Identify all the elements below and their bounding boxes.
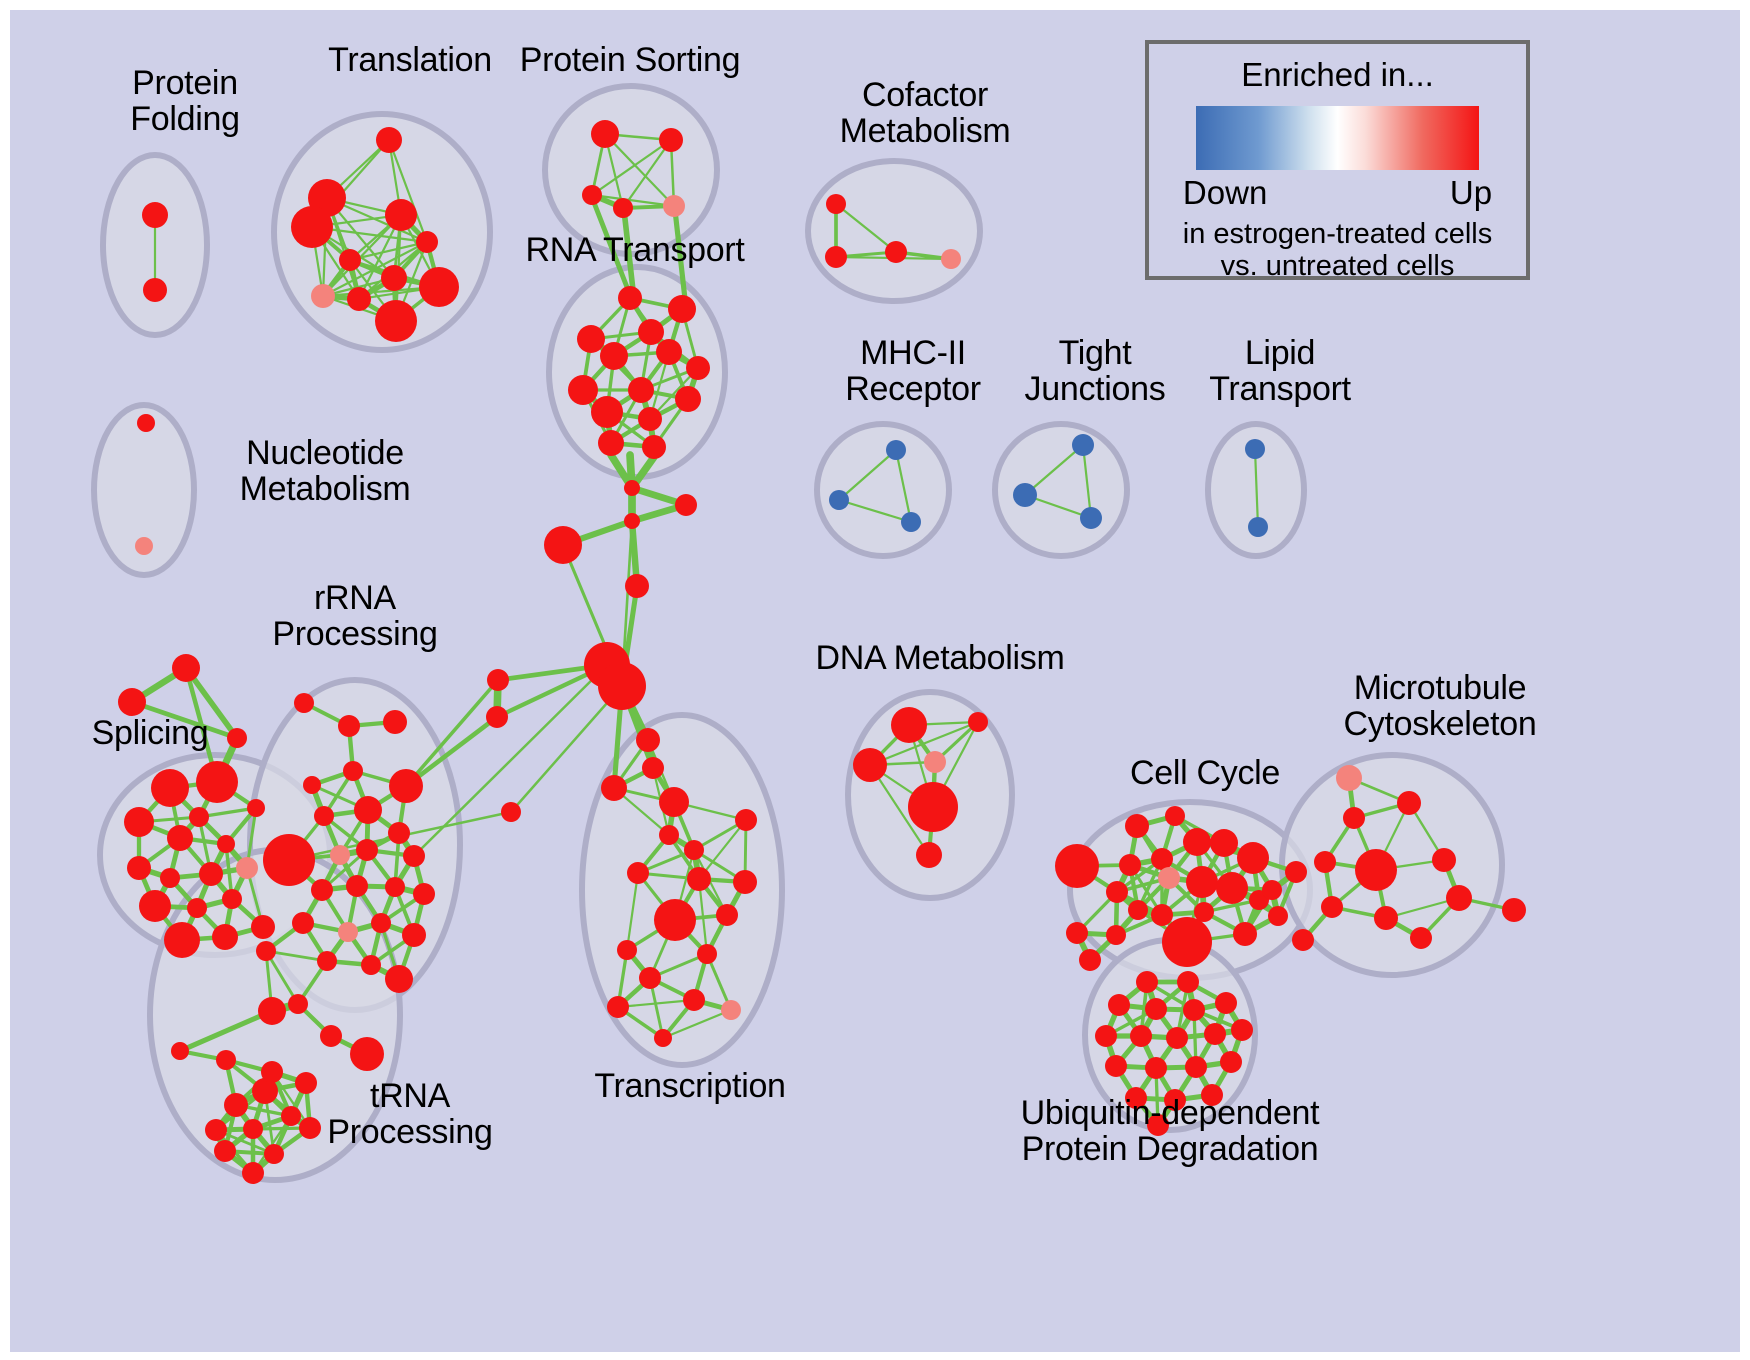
network-node[interactable] [659, 825, 679, 845]
network-node[interactable] [172, 654, 200, 682]
network-node[interactable] [1220, 1051, 1242, 1073]
network-node[interactable] [659, 787, 689, 817]
network-node[interactable] [258, 997, 286, 1025]
network-node[interactable] [251, 915, 275, 939]
network-node[interactable] [577, 325, 605, 353]
cluster-label-microtubule-cytoskeleton: Microtubule Cytoskeleton [1310, 670, 1570, 742]
network-node[interactable] [1158, 867, 1180, 889]
network-node[interactable] [908, 782, 958, 832]
cluster-label-translation: Translation [285, 42, 535, 78]
network-node[interactable] [636, 728, 660, 752]
network-node[interactable] [1268, 906, 1288, 926]
cluster-label-transcription: Transcription [565, 1068, 815, 1104]
network-node[interactable] [686, 356, 710, 380]
network-node[interactable] [885, 241, 907, 263]
network-node[interactable] [901, 512, 921, 532]
network-node[interactable] [402, 923, 426, 947]
legend-title: Enriched in... [1149, 56, 1526, 94]
network-node[interactable] [375, 300, 417, 342]
network-node[interactable] [311, 879, 333, 901]
network-node[interactable] [303, 776, 321, 794]
network-node[interactable] [346, 875, 368, 897]
network-node[interactable] [189, 807, 209, 827]
network-node[interactable] [501, 802, 521, 822]
network-node[interactable] [356, 839, 378, 861]
network-node[interactable] [733, 870, 757, 894]
network-node[interactable] [826, 194, 846, 214]
network-node[interactable] [288, 994, 308, 1014]
network-node[interactable] [1125, 814, 1149, 838]
cluster-halo-protein-sorting [545, 86, 717, 254]
legend-panel: Enriched in... Down Up in estrogen-treat… [1145, 40, 1530, 280]
network-node[interactable] [339, 249, 361, 271]
network-node[interactable] [891, 707, 927, 743]
network-node[interactable] [1066, 922, 1088, 944]
network-node[interactable] [1186, 866, 1218, 898]
network-node[interactable] [330, 845, 350, 865]
network-node[interactable] [941, 249, 961, 269]
network-node[interactable] [716, 904, 738, 926]
network-node[interactable] [1072, 434, 1094, 456]
network-node[interactable] [1165, 806, 1185, 826]
network-node[interactable] [591, 120, 619, 148]
network-node[interactable] [613, 198, 633, 218]
network-node[interactable] [350, 1037, 384, 1071]
network-node[interactable] [1080, 507, 1102, 529]
network-node[interactable] [388, 822, 410, 844]
network-node[interactable] [343, 761, 363, 781]
network-node[interactable] [1432, 848, 1456, 872]
network-node[interactable] [1194, 902, 1214, 922]
cluster-label-lipid-transport: Lipid Transport [1170, 335, 1390, 407]
network-node[interactable] [1095, 1025, 1117, 1047]
network-node[interactable] [164, 922, 200, 958]
network-node[interactable] [1162, 917, 1212, 967]
network-node[interactable] [639, 967, 661, 989]
network-node[interactable] [236, 857, 258, 879]
network-node[interactable] [413, 883, 435, 905]
network-node[interactable] [224, 1093, 248, 1117]
network-node[interactable] [1145, 998, 1167, 1020]
network-node[interactable] [624, 513, 640, 529]
network-node[interactable] [385, 877, 405, 897]
network-node[interactable] [1233, 922, 1257, 946]
network-node[interactable] [314, 806, 334, 826]
network-node[interactable] [638, 407, 662, 431]
network-node[interactable] [263, 834, 315, 886]
network-node[interactable] [625, 574, 649, 598]
network-node[interactable] [338, 922, 358, 942]
network-node[interactable] [1314, 851, 1336, 873]
cluster-label-nucleotide-metabolism: Nucleotide Metabolism [200, 435, 450, 507]
network-node[interactable] [118, 688, 146, 716]
network-node[interactable] [687, 867, 711, 891]
cluster-label-dna-metabolism: DNA Metabolism [810, 640, 1070, 676]
network-node[interactable] [642, 757, 664, 779]
network-node[interactable] [486, 706, 508, 728]
cluster-halo-cofactor-metabolism [808, 161, 980, 301]
cluster-label-protein-sorting: Protein Sorting [505, 42, 755, 78]
network-node[interactable] [160, 868, 180, 888]
network-node[interactable] [1013, 483, 1037, 507]
network-node[interactable] [853, 748, 887, 782]
network-node[interactable] [291, 206, 333, 248]
network-node[interactable] [1177, 971, 1199, 993]
network-node[interactable] [338, 715, 360, 737]
network-node[interactable] [1397, 791, 1421, 815]
network-node[interactable] [916, 842, 942, 868]
network-node[interactable] [256, 941, 276, 961]
network-node[interactable] [638, 319, 664, 345]
network-node[interactable] [598, 430, 624, 456]
network-node[interactable] [624, 480, 640, 496]
network-node[interactable] [151, 769, 189, 807]
network-node[interactable] [1502, 898, 1526, 922]
network-node[interactable] [167, 825, 193, 851]
network-node[interactable] [1237, 842, 1269, 874]
network-node[interactable] [347, 287, 371, 311]
network-node[interactable] [1183, 999, 1205, 1021]
network-node[interactable] [171, 1042, 189, 1060]
network-node[interactable] [654, 899, 696, 941]
network-node[interactable] [1245, 439, 1265, 459]
network-node[interactable] [320, 1025, 342, 1047]
network-node[interactable] [416, 231, 438, 253]
network-node[interactable] [654, 1029, 672, 1047]
network-node[interactable] [1210, 829, 1238, 857]
network-node[interactable] [656, 339, 682, 365]
network-node[interactable] [1343, 807, 1365, 829]
legend-low-label: Down [1183, 174, 1267, 212]
network-node[interactable] [544, 526, 582, 564]
network-node[interactable] [1410, 927, 1432, 949]
network-node[interactable] [205, 1119, 227, 1141]
network-node[interactable] [217, 835, 235, 853]
network-node[interactable] [222, 889, 242, 909]
network-node[interactable] [247, 799, 265, 817]
network-node[interactable] [1336, 765, 1362, 791]
network-node[interactable] [1248, 517, 1268, 537]
network-node[interactable] [642, 435, 666, 459]
network-node[interactable] [668, 295, 696, 323]
network-node[interactable] [1079, 949, 1101, 971]
network-node[interactable] [659, 128, 683, 152]
network-node[interactable] [139, 890, 171, 922]
cluster-halo-mhc-ii-receptor [817, 424, 949, 556]
network-node[interactable] [1231, 1019, 1253, 1041]
network-node[interactable] [1285, 861, 1307, 883]
network-node[interactable] [187, 898, 207, 918]
network-node[interactable] [1204, 1023, 1226, 1045]
network-node[interactable] [381, 265, 407, 291]
network-node[interactable] [1105, 1055, 1127, 1077]
network-node[interactable] [487, 669, 509, 691]
network-node[interactable] [1055, 844, 1099, 888]
network-node[interactable] [600, 342, 628, 370]
network-node[interactable] [1183, 828, 1211, 856]
legend-high-label: Up [1450, 174, 1492, 212]
network-node[interactable] [212, 924, 238, 950]
network-node[interactable] [591, 396, 623, 428]
cluster-label-trna-processing: tRNA Processing [300, 1078, 520, 1150]
network-node[interactable] [354, 796, 382, 824]
network-node[interactable] [199, 862, 223, 886]
network-node[interactable] [1106, 881, 1128, 903]
network-node[interactable] [735, 809, 757, 831]
network-node[interactable] [568, 375, 598, 405]
network-node[interactable] [1128, 900, 1148, 920]
network-node[interactable] [216, 1050, 236, 1070]
network-node[interactable] [1130, 1025, 1152, 1047]
network-node[interactable] [264, 1144, 284, 1164]
network-node[interactable] [721, 1000, 741, 1020]
network-node[interactable] [385, 965, 413, 993]
network-node[interactable] [142, 202, 168, 228]
figure-root: Protein FoldingTranslationProtein Sortin… [0, 0, 1750, 1360]
network-node[interactable] [376, 127, 402, 153]
cluster-label-rna-transport: RNA Transport [510, 232, 760, 268]
network-node[interactable] [243, 1119, 263, 1139]
network-node[interactable] [317, 951, 337, 971]
network-node[interactable] [601, 775, 627, 801]
network-node[interactable] [697, 944, 717, 964]
cluster-label-splicing: Splicing [60, 715, 240, 751]
network-node[interactable] [886, 440, 906, 460]
network-node[interactable] [1446, 885, 1472, 911]
network-node[interactable] [1151, 904, 1173, 926]
network-canvas: Protein FoldingTranslationProtein Sortin… [10, 10, 1740, 1352]
network-node[interactable] [311, 284, 335, 308]
network-node[interactable] [127, 856, 151, 880]
network-node[interactable] [627, 862, 649, 884]
network-node[interactable] [1185, 1056, 1207, 1078]
network-node[interactable] [968, 712, 988, 732]
network-node[interactable] [582, 185, 602, 205]
network-node[interactable] [196, 761, 238, 803]
network-node[interactable] [135, 537, 153, 555]
network-node[interactable] [1108, 994, 1130, 1016]
network-node[interactable] [675, 386, 701, 412]
network-node[interactable] [1136, 971, 1158, 993]
network-node[interactable] [607, 996, 629, 1018]
network-node[interactable] [1106, 925, 1126, 945]
legend-endpoints: Down Up [1149, 174, 1526, 212]
network-node[interactable] [663, 195, 685, 217]
legend-caption: in estrogen-treated cells vs. untreated … [1149, 218, 1526, 283]
network-node[interactable] [214, 1140, 236, 1162]
network-node[interactable] [1292, 929, 1314, 951]
network-node[interactable] [1374, 906, 1398, 930]
legend-gradient-bar [1196, 106, 1479, 170]
network-node[interactable] [1216, 872, 1248, 904]
network-node[interactable] [137, 414, 155, 432]
network-node[interactable] [294, 693, 314, 713]
network-node[interactable] [1215, 992, 1237, 1014]
cluster-label-ubiquitin-degradation: Ubiquitin-dependent Protein Degradation [995, 1095, 1345, 1167]
network-node[interactable] [829, 490, 849, 510]
network-node[interactable] [292, 912, 314, 934]
network-node[interactable] [924, 751, 946, 773]
network-node[interactable] [618, 286, 642, 310]
network-node[interactable] [124, 807, 154, 837]
network-node[interactable] [242, 1162, 264, 1184]
network-node[interactable] [371, 913, 391, 933]
network-node[interactable] [419, 267, 459, 307]
network-node[interactable] [1262, 880, 1282, 900]
cluster-label-cofactor-metabolism: Cofactor Metabolism [800, 77, 1050, 149]
cluster-label-cell-cycle: Cell Cycle [1105, 755, 1305, 791]
network-node[interactable] [1119, 854, 1141, 876]
network-node[interactable] [1151, 848, 1173, 870]
network-node[interactable] [683, 989, 705, 1011]
network-node[interactable] [403, 845, 425, 867]
network-node[interactable] [143, 278, 167, 302]
network-node[interactable] [1321, 896, 1343, 918]
network-node[interactable] [389, 769, 423, 803]
network-node[interactable] [385, 199, 417, 231]
network-node[interactable] [598, 662, 646, 710]
network-node[interactable] [617, 940, 637, 960]
network-node[interactable] [383, 710, 407, 734]
network-node[interactable] [1166, 1027, 1188, 1049]
network-node[interactable] [1355, 849, 1397, 891]
network-node[interactable] [361, 955, 381, 975]
cluster-label-rrna-processing: rRNA Processing [245, 580, 465, 652]
network-node[interactable] [684, 840, 704, 860]
network-node[interactable] [1145, 1057, 1167, 1079]
network-node[interactable] [825, 246, 847, 268]
network-node[interactable] [281, 1106, 301, 1126]
cluster-label-protein-folding: Protein Folding [85, 65, 285, 137]
network-node[interactable] [675, 494, 697, 516]
network-node[interactable] [628, 377, 654, 403]
network-node[interactable] [261, 1061, 283, 1083]
